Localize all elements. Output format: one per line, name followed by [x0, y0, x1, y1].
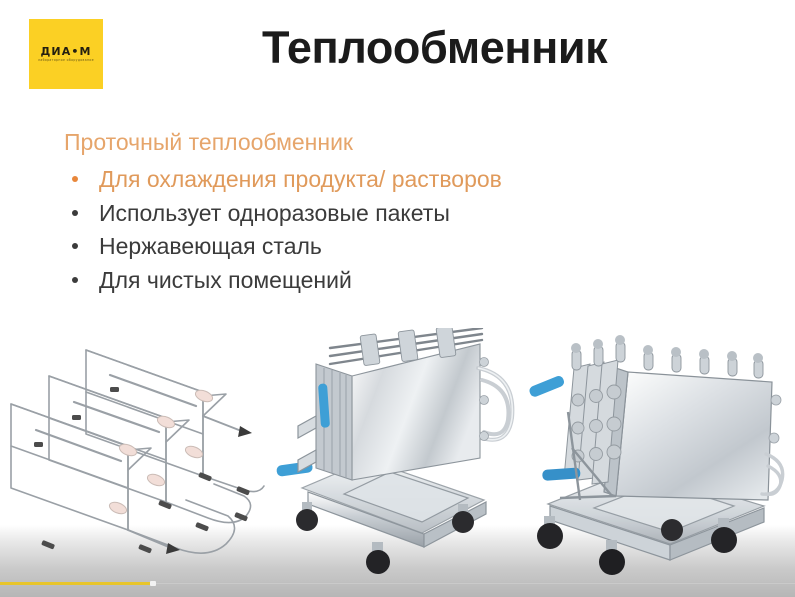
heat-exchanger-cart-photo-right: [520, 328, 795, 580]
logo-wordmark: ДИА•М: [41, 46, 92, 57]
video-progress-handle[interactable]: [150, 581, 156, 586]
list-item-label: Для охлаждения продукта/ растворов: [99, 166, 502, 192]
list-item: Для чистых помещений: [64, 264, 624, 298]
logo-subtitle: лабораторное оборудование: [38, 59, 94, 62]
lead-heading: Проточный теплообменник: [64, 131, 624, 154]
video-progress-bar[interactable]: [0, 582, 795, 585]
bullet-dot-icon: [72, 176, 78, 182]
list-item: Для охлаждения продукта/ растворов: [64, 163, 624, 197]
list-item-label: Для чистых помещений: [99, 267, 352, 293]
bullet-dot-icon: [72, 210, 78, 216]
list-item: Использует одноразовые пакеты: [64, 197, 624, 231]
list-item: Нержавеющая сталь: [64, 230, 624, 264]
heat-exchanger-cart-photo-middle: [272, 328, 540, 578]
video-progress-fill: [0, 582, 151, 585]
list-item-label: Использует одноразовые пакеты: [99, 200, 450, 226]
list-item-label: Нержавеющая сталь: [99, 233, 322, 259]
slide-body: Проточный теплообменник Для охлаждения п…: [64, 131, 624, 297]
isometric-line-drawing: [0, 330, 280, 585]
artwork-stage: [0, 300, 795, 597]
bullet-dot-icon: [72, 277, 78, 283]
bullet-list: Для охлаждения продукта/ растворов Испол…: [64, 163, 624, 297]
company-logo: ДИА•М лабораторное оборудование: [29, 19, 103, 89]
bullet-dot-icon: [72, 243, 78, 249]
slide-title: Теплообменник: [262, 23, 692, 73]
presentation-slide: ДИА•М лабораторное оборудование Теплообм…: [0, 0, 795, 597]
